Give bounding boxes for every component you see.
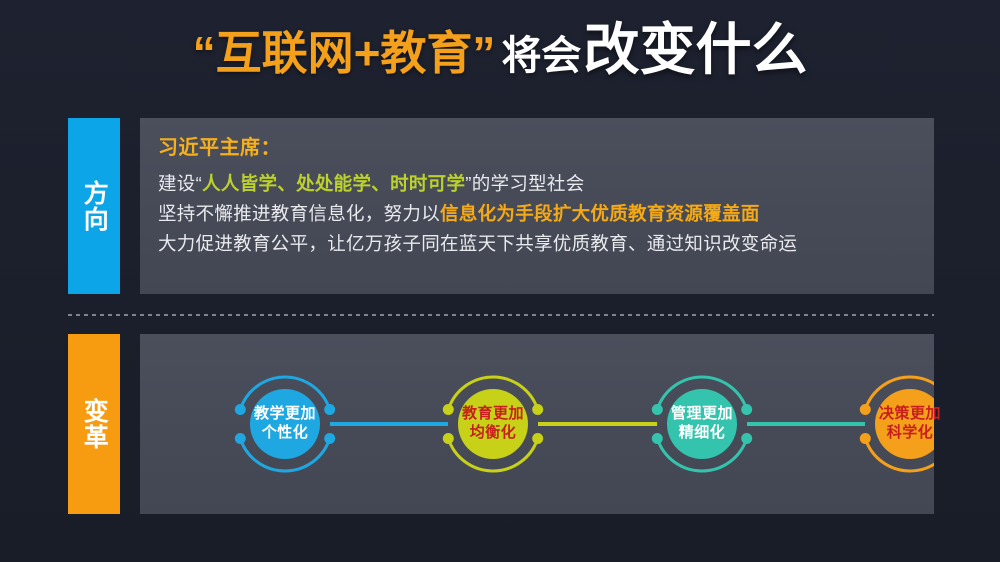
section-divider — [68, 314, 934, 316]
slide-root: “互联网+教育”将会改变什么 方向 习近平主席： 建设“人人皆学、处处能学、时时… — [0, 0, 1000, 562]
flow-node-ring-dot — [324, 404, 335, 415]
quote-line-1-part-3: ”的学习型社会 — [465, 173, 584, 194]
quote-line-2-highlight: 信息化为手段扩大优质教育资源覆盖面 — [440, 203, 760, 224]
flow-node-disc[interactable] — [458, 389, 528, 459]
flow-node-4[interactable] — [860, 377, 934, 471]
title-quoted-part: “互联网+教育” — [193, 30, 496, 76]
flow-node-ring-dot — [860, 433, 871, 444]
flow-node-disc[interactable] — [667, 389, 737, 459]
title-emphasis-part: 改变什么 — [583, 22, 807, 78]
quote-speaker: 习近平主席： — [158, 131, 924, 160]
section-tag-change-label: 变革 — [79, 398, 110, 450]
flow-diagram: 教学更加个性化教育更加均衡化管理更加精细化决策更加科学化 — [140, 334, 934, 514]
flow-node-ring-dot — [235, 433, 246, 444]
section-direction: 方向 习近平主席： 建设“人人皆学、处处能学、时时可学”的学习型社会 坚持不懈推… — [68, 118, 934, 294]
quote-line-1: 建设“人人皆学、处处能学、时时可学”的学习型社会 — [158, 169, 924, 199]
quote-body: 习近平主席： 建设“人人皆学、处处能学、时时可学”的学习型社会 坚持不懈推进教育… — [158, 131, 924, 259]
quote-line-2: 坚持不懈推进教育信息化，努力以信息化为手段扩大优质教育资源覆盖面 — [158, 199, 924, 229]
quote-line-3-part-1: 大力促进教育公平，让亿万孩子同在蓝天下共享优质教育、通过知识改变命运 — [158, 233, 797, 254]
flow-node-ring-dot — [532, 433, 543, 444]
flow-node-ring-dot — [652, 404, 663, 415]
quote-line-1-part-1: 建设“ — [158, 173, 202, 194]
flow-node-ring-dot — [443, 433, 454, 444]
flow-svg-canvas — [140, 334, 934, 514]
direction-panel: 习近平主席： 建设“人人皆学、处处能学、时时可学”的学习型社会 坚持不懈推进教育… — [140, 118, 934, 294]
page-title: “互联网+教育”将会改变什么 — [0, 22, 1000, 78]
quote-line-1-highlight: 人人皆学、处处能学、时时可学 — [202, 173, 465, 194]
flow-node-1[interactable] — [235, 377, 335, 471]
flow-node-ring-dot — [741, 404, 752, 415]
section-change: 变革 教学更加个性化教育更加均衡化管理更加精细化决策更加科学化 — [68, 334, 934, 514]
flow-node-ring-dot — [652, 433, 663, 444]
flow-node-ring-dot — [860, 404, 871, 415]
flow-node-ring-dot — [741, 433, 752, 444]
flow-node-disc[interactable] — [875, 389, 934, 459]
section-tag-direction: 方向 — [68, 118, 120, 294]
flow-node-ring-dot — [235, 404, 246, 415]
section-tag-change: 变革 — [68, 334, 120, 514]
flow-node-2[interactable] — [443, 377, 543, 471]
flow-node-disc[interactable] — [250, 389, 320, 459]
title-middle-part: 将会 — [501, 36, 581, 76]
flow-node-ring-dot — [324, 433, 335, 444]
section-tag-direction-label: 方向 — [79, 180, 110, 232]
quote-line-3: 大力促进教育公平，让亿万孩子同在蓝天下共享优质教育、通过知识改变命运 — [158, 229, 924, 259]
flow-node-ring-dot — [532, 404, 543, 415]
flow-node-3[interactable] — [652, 377, 752, 471]
flow-node-ring-dot — [443, 404, 454, 415]
quote-line-2-part-1: 坚持不懈推进教育信息化，努力以 — [158, 203, 440, 224]
